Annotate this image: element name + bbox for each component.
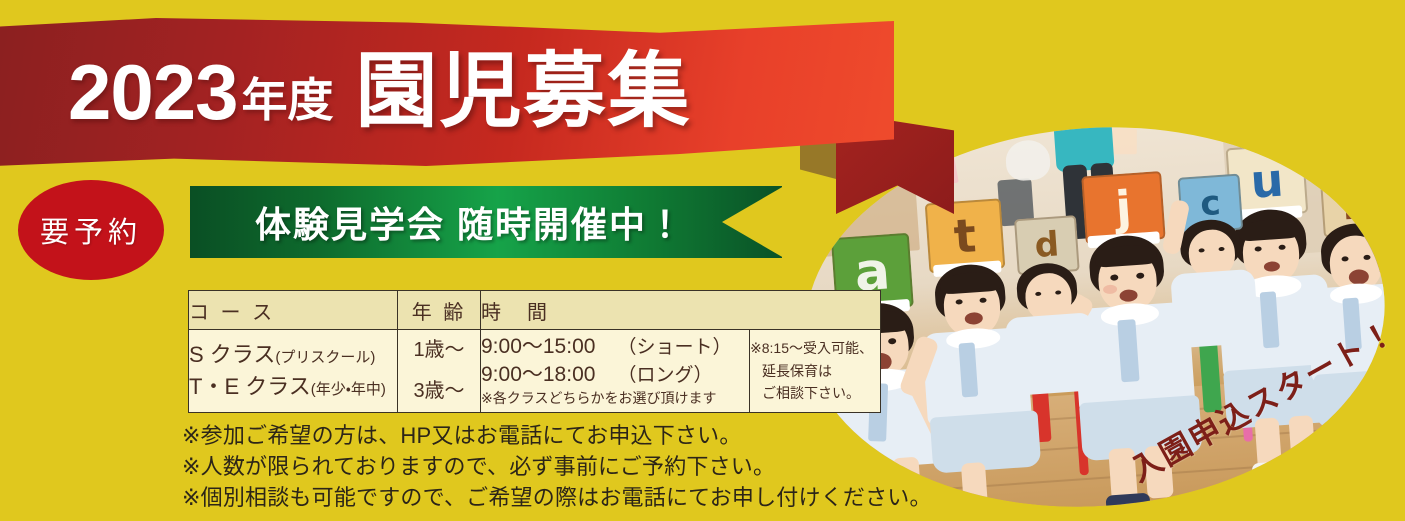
time-row-1: 9:00〜15:00（ショート） <box>481 333 749 361</box>
course-cell: S クラス(プリスクール) T・E クラス(年少・年中) <box>189 330 398 413</box>
extra-note-line-1: ※8:15〜受入可能、 <box>750 337 880 359</box>
course-name-2: T・E クラス <box>189 374 311 399</box>
bullet-note-3: ※個別相談も可能ですので、ご希望の際はお電話にてお申し付けください。 <box>182 482 862 513</box>
age-value-2: 3歳〜 <box>398 371 480 412</box>
table-body-row: S クラス(プリスクール) T・E クラス(年少・年中) 1歳〜 3歳〜 9:0… <box>189 330 881 413</box>
course-row-2: T・E クラス(年少・年中) <box>189 371 397 403</box>
age-cell: 1歳〜 3歳〜 <box>398 330 481 413</box>
time-label-1: （ショート） <box>617 337 731 358</box>
course-detail-2: (年少・年中) <box>311 381 386 398</box>
reservation-required-badge: 要予約 <box>18 180 164 280</box>
event-ribbon <box>190 186 782 258</box>
bullet-note-2: ※人数が限られておりますので、必ず事前にご予約下さい。 <box>182 451 862 482</box>
age-value-1: 1歳〜 <box>398 330 480 371</box>
course-name-1: S クラス <box>189 342 275 367</box>
bullet-note-1: ※参加ご希望の方は、HP又はお電話にてお申込下さい。 <box>182 420 862 451</box>
course-table: コ ー ス 年 齢 時 間 S クラス(プリスクール) T・E クラス(年少・年… <box>188 290 881 413</box>
course-detail-1: (プリスクール) <box>275 349 375 366</box>
time-cell: 9:00〜15:00（ショート） 9:00〜18:00（ロング） ※各クラスどち… <box>481 330 750 413</box>
course-row-1: S クラス(プリスクール) <box>189 339 397 371</box>
headline-ribbon <box>0 18 894 166</box>
recruitment-banner: a t <box>0 0 1405 521</box>
uniform <box>1170 269 1259 349</box>
extra-note-line-3: ご相談下さい。 <box>750 382 880 404</box>
table-header-row: コ ー ス 年 齢 時 間 <box>189 291 881 330</box>
time-range-1: 9:00〜15:00 <box>481 335 595 358</box>
uniform <box>1005 312 1098 396</box>
time-label-2: （ロング） <box>617 365 712 386</box>
extra-note-cell: ※8:15〜受入可能、 延長保育は ご相談下さい。 <box>750 330 881 413</box>
skirt <box>930 410 1042 473</box>
time-range-2: 9:00〜18:00 <box>481 363 595 386</box>
header-time: 時 間 <box>481 291 881 330</box>
bullet-notes: ※参加ご希望の方は、HP又はお電話にてお申込下さい。 ※人数が限られておりますの… <box>182 420 862 514</box>
time-row-2: 9:00〜18:00（ロング） <box>481 361 749 389</box>
teacher-bag <box>1005 139 1052 182</box>
time-footnote: ※各クラスどちらかをお選び頂けます <box>481 388 749 409</box>
extra-note-line-2: 延長保育は <box>750 360 880 382</box>
header-age: 年 齢 <box>398 291 481 330</box>
header-course: コ ー ス <box>189 291 398 330</box>
badge-label: 要予約 <box>40 209 142 251</box>
